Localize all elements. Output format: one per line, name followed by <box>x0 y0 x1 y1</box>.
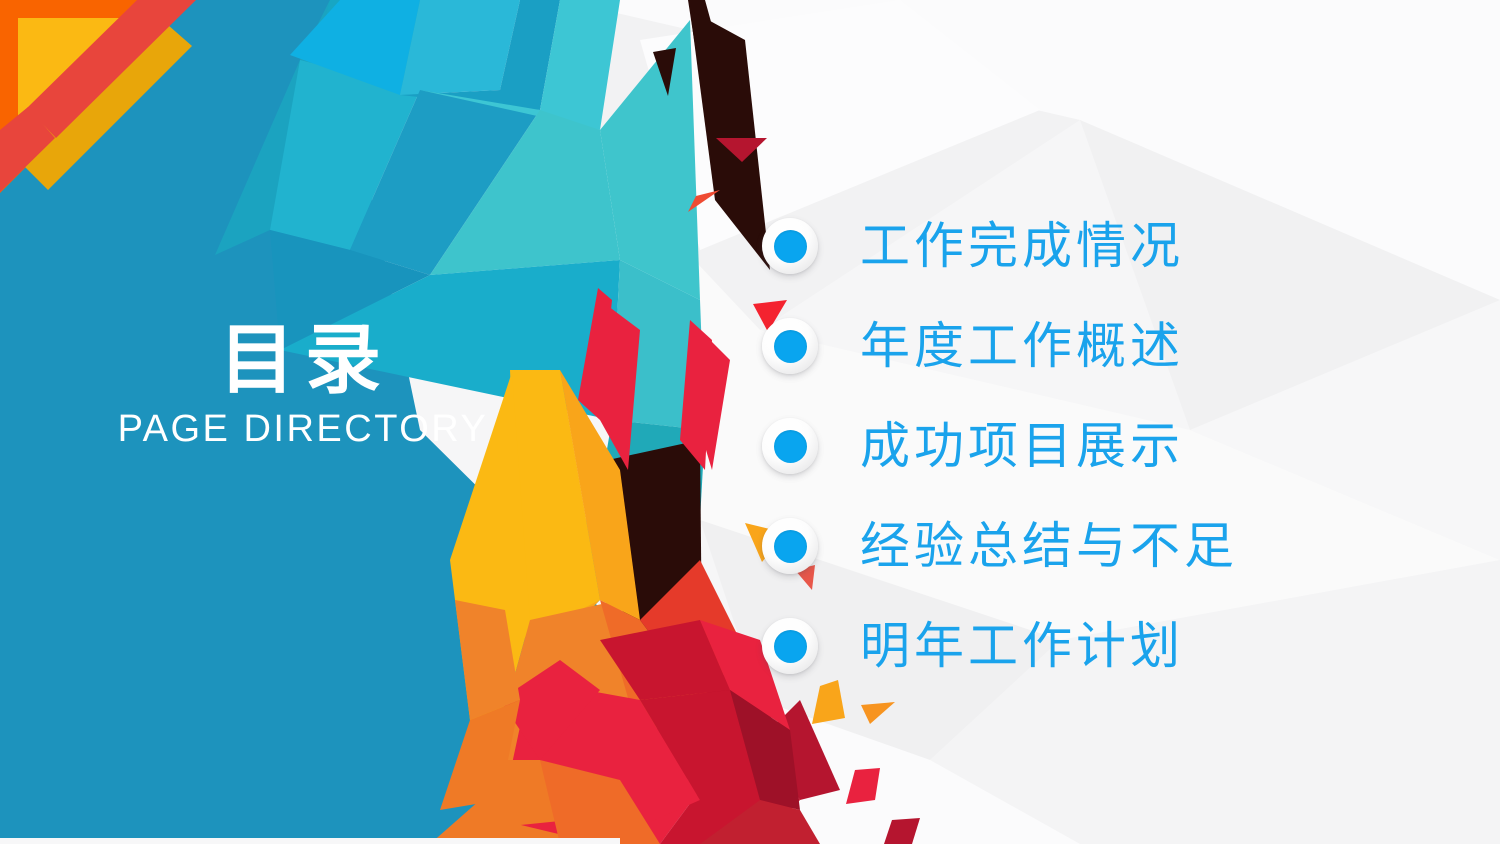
agenda-item-label: 年度工作概述 <box>860 320 1184 373</box>
agenda-list: 工作完成情况 年度工作概述 成功项目展示 经验总结与不足 明年工作计划 <box>762 196 1462 696</box>
agenda-item-label: 成功项目展示 <box>860 420 1184 473</box>
agenda-item-5[interactable]: 明年工作计划 <box>762 596 1462 696</box>
bullet-circle-icon <box>762 518 818 574</box>
agenda-item-label: 工作完成情况 <box>860 220 1184 273</box>
bullet-circle-icon <box>762 218 818 274</box>
agenda-item-label: 明年工作计划 <box>860 620 1184 673</box>
agenda-item-4[interactable]: 经验总结与不足 <box>762 496 1462 596</box>
bottom-white-strip <box>0 838 620 844</box>
presentation-slide: 目录 PAGE DIRECTORY 工作完成情况 年度工作概述 成功项目展示 经… <box>0 0 1500 844</box>
agenda-item-2[interactable]: 年度工作概述 <box>762 296 1462 396</box>
agenda-item-1[interactable]: 工作完成情况 <box>762 196 1462 296</box>
bullet-circle-icon <box>762 418 818 474</box>
agenda-item-3[interactable]: 成功项目展示 <box>762 396 1462 496</box>
bullet-circle-icon <box>762 318 818 374</box>
agenda-item-label: 经验总结与不足 <box>860 520 1238 573</box>
bullet-circle-icon <box>762 618 818 674</box>
